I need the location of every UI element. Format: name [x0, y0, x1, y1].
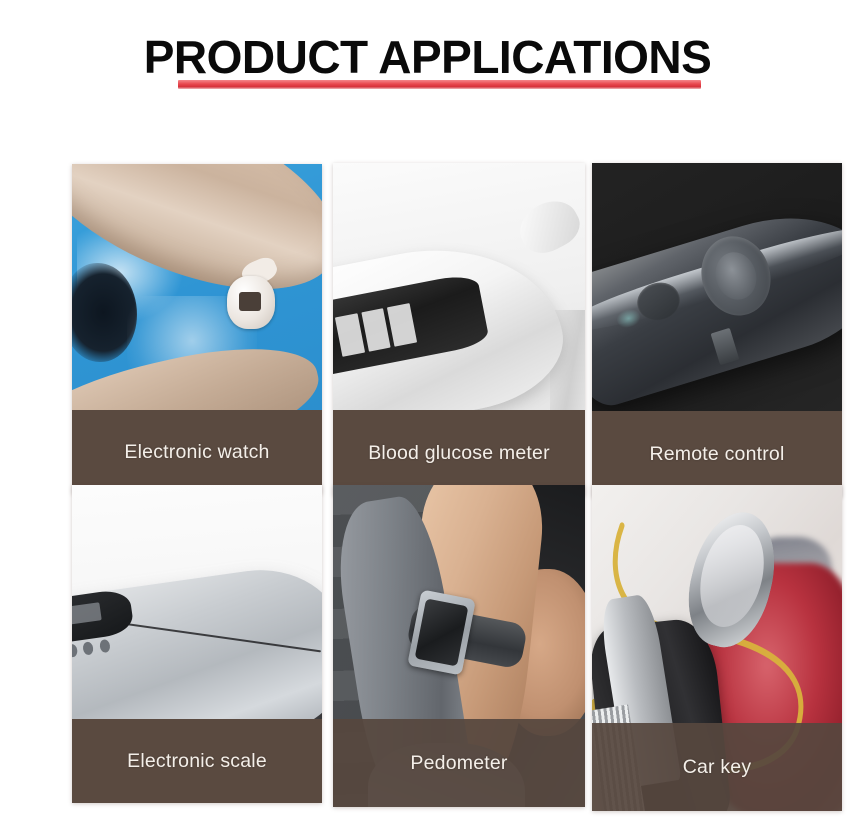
application-card-electronic-scale[interactable]: Electronic scale: [72, 485, 322, 803]
title-underline-accent: [178, 80, 701, 89]
card-caption-electronic-scale: Electronic scale: [72, 719, 322, 803]
card-caption-pedometer: Pedometer: [333, 719, 585, 807]
electrode-dot: [83, 641, 95, 655]
title-section: PRODUCT APPLICATIONS: [0, 0, 855, 150]
application-card-remote-control[interactable]: Remote control: [592, 163, 842, 497]
lcd-digit: [361, 308, 391, 352]
card-caption-electronic-watch: Electronic watch: [72, 410, 322, 494]
card-caption-car-key: Car key: [592, 723, 842, 811]
application-card-pedometer[interactable]: Pedometer: [333, 485, 585, 807]
application-card-blood-glucose-meter[interactable]: Blood glucose meter: [333, 163, 585, 496]
product-applications-grid: Electronic watch Blood glucose meter: [0, 150, 855, 828]
electrode-dot: [72, 643, 78, 657]
wrist-watch-shape: [227, 276, 275, 329]
scale-display-readout: [72, 602, 101, 624]
card-caption-blood-glucose-meter: Blood glucose meter: [333, 410, 585, 496]
application-card-electronic-watch[interactable]: Electronic watch: [72, 164, 322, 494]
electrode-dot: [99, 639, 111, 653]
test-strip-shape: [512, 191, 585, 261]
application-card-car-key[interactable]: Car key: [592, 485, 842, 811]
page-title: PRODUCT APPLICATIONS: [0, 34, 855, 80]
